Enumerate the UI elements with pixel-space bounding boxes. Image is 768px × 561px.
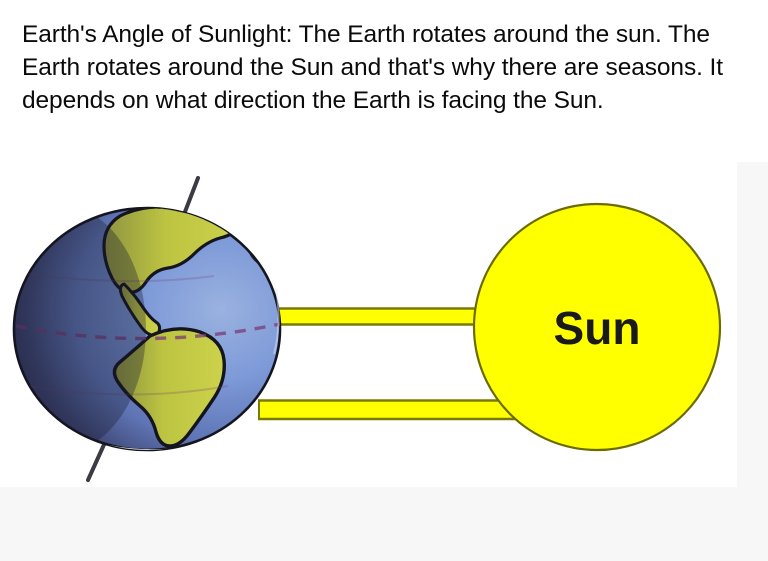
africa-limb-landmass <box>248 228 284 265</box>
earth-sun-diagram: Sun <box>0 160 737 487</box>
slide-text-block: Earth's Angle of Sunlight: The Earth rot… <box>0 0 768 117</box>
diagram-canvas: Sun <box>0 160 737 487</box>
sun-label: Sun <box>554 302 641 354</box>
earth-graphic <box>0 198 284 467</box>
slide-body-paragraph: Earth's Angle of Sunlight: The Earth rot… <box>22 18 744 117</box>
greenland-landmass <box>202 198 236 216</box>
sun-graphic: Sun <box>474 204 720 450</box>
